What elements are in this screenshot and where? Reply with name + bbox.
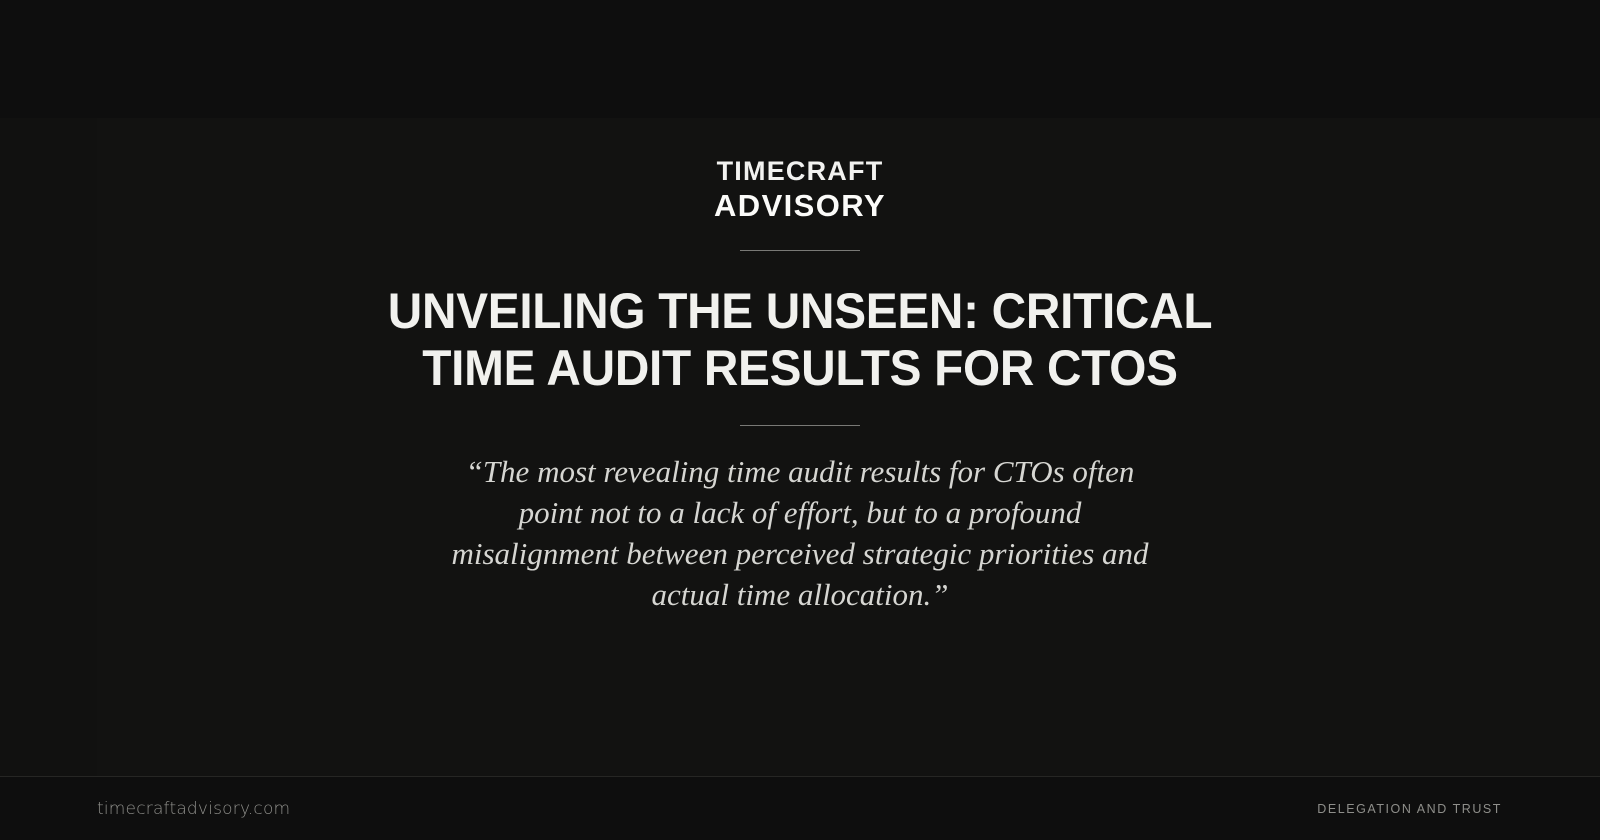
slide-content: TIMECRAFT ADVISORY UNVEILING THE UNSEEN:… bbox=[0, 0, 1600, 790]
title-divider-wrap bbox=[0, 425, 1600, 426]
brand-logo: TIMECRAFT ADVISORY bbox=[714, 157, 886, 251]
logo-divider bbox=[740, 250, 860, 251]
presentation-slide: TIMECRAFT ADVISORY UNVEILING THE UNSEEN:… bbox=[0, 0, 1600, 840]
logo-wordmark-secondary: ADVISORY bbox=[714, 190, 886, 221]
logo-wordmark-primary: TIMECRAFT bbox=[717, 157, 884, 187]
footer-section-tag: DELEGATION AND TRUST bbox=[1317, 802, 1502, 816]
footer-website-url: timecraftadvisory.com bbox=[97, 799, 290, 819]
title-divider bbox=[740, 425, 860, 426]
slide-footer: timecraftadvisory.com DELEGATION AND TRU… bbox=[0, 776, 1600, 840]
slide-title: UNVEILING THE UNSEEN: CRITICAL TIME AUDI… bbox=[370, 283, 1230, 397]
slide-quote: “The most revealing time audit results f… bbox=[444, 451, 1156, 615]
